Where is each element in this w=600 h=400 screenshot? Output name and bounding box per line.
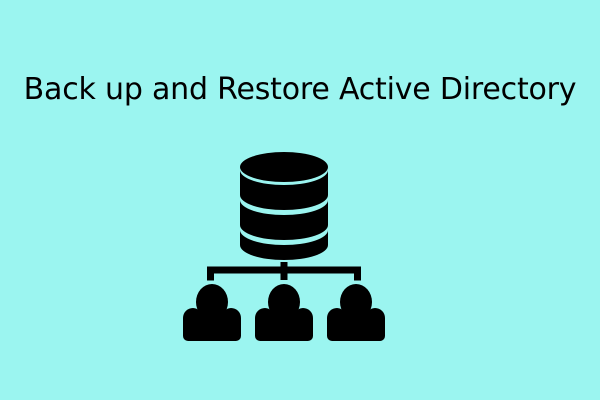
poster-canvas: Back up and Restore Active Directory (0, 0, 600, 400)
database-cylinder-icon (240, 152, 328, 260)
diagram-illustration (0, 0, 600, 400)
user-icon-right (327, 284, 385, 341)
connector-horizontal-bar (207, 267, 361, 274)
tree-connector (207, 262, 361, 281)
user-icon-center (255, 284, 313, 341)
connector-right-drop (354, 267, 361, 281)
diagram-svg (0, 0, 600, 400)
user-icon-left (183, 284, 241, 341)
cylinder-top-ellipse (240, 152, 328, 182)
connector-left-drop (207, 267, 214, 281)
